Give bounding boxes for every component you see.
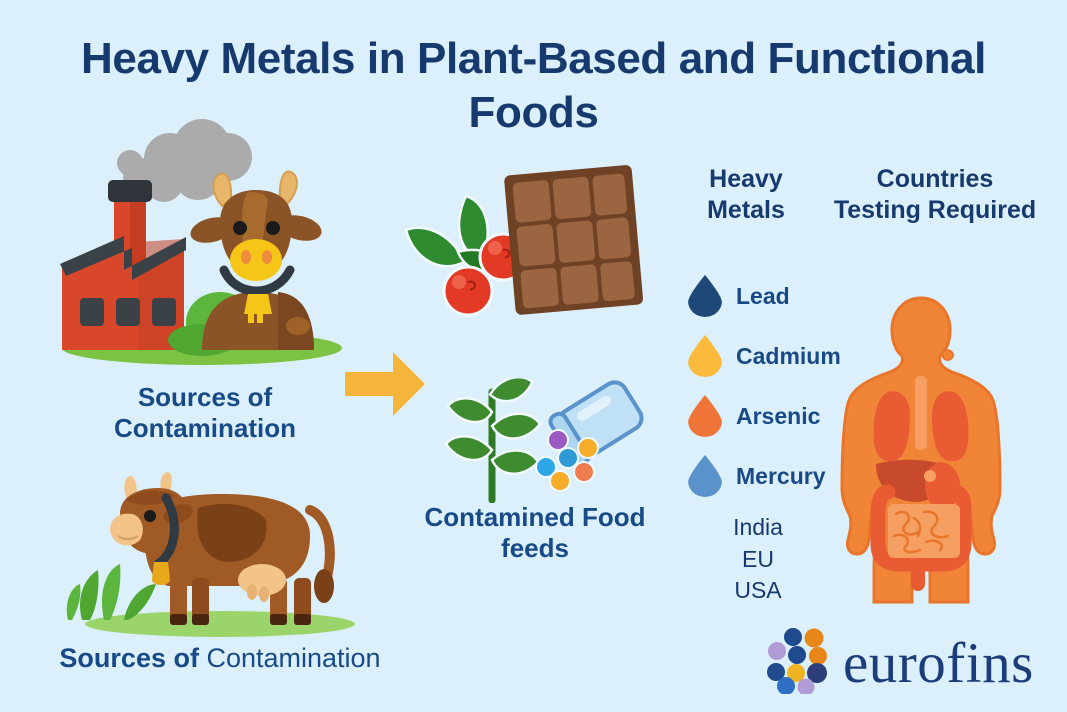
- water-drop-icon: [688, 395, 722, 437]
- heading-countries-testing: Countries Testing Required: [832, 164, 1038, 225]
- water-drop-icon: [688, 455, 722, 497]
- country-item-india: India: [688, 512, 828, 544]
- drop-shape: [688, 335, 722, 377]
- countries-list: India EU USA: [688, 512, 828, 607]
- cow-icon: [58, 458, 368, 643]
- grass-icon: [67, 564, 156, 620]
- water-drop-icon: [688, 335, 722, 377]
- legend-label-arsenic: Arsenic: [736, 403, 820, 430]
- legend-label-mercury: Mercury: [736, 463, 825, 490]
- human-body-icon: [826, 292, 1016, 613]
- eurofins-logo: eurofins: [766, 628, 1034, 699]
- right-arrow-icon: [345, 352, 425, 421]
- heading-heavy-metals: Heavy Metals: [676, 164, 816, 225]
- country-item-usa: USA: [688, 575, 828, 607]
- caption-sources-top: Sources of Contamination: [60, 382, 350, 444]
- drop-shape: [688, 275, 722, 317]
- eurofins-dots-icon: [766, 628, 832, 699]
- leaf-icon: [446, 378, 540, 474]
- water-drop-icon: [688, 275, 722, 317]
- chocolate-bar-icon: [398, 164, 648, 344]
- caption-sources-bottom: Sources of Contamination: [10, 642, 430, 674]
- eurofins-wordmark: eurofins: [843, 635, 1034, 692]
- infographic-canvas: Heavy Metals in Plant-Based and Function…: [0, 0, 1067, 712]
- country-item-eu: EU: [688, 544, 828, 576]
- caption-contaminated-food: Contamined Food feeds: [400, 502, 670, 564]
- caption-sources-bold: Sources of: [59, 643, 206, 673]
- factory-icon: [52, 112, 342, 372]
- legend-label-lead: Lead: [736, 283, 790, 310]
- cow-head-icon: [188, 172, 324, 350]
- sprout-with-pills-icon: [430, 378, 645, 508]
- caption-contamination-light: Contamination: [206, 643, 380, 673]
- drop-shape: [688, 455, 722, 497]
- drop-shape: [688, 395, 722, 437]
